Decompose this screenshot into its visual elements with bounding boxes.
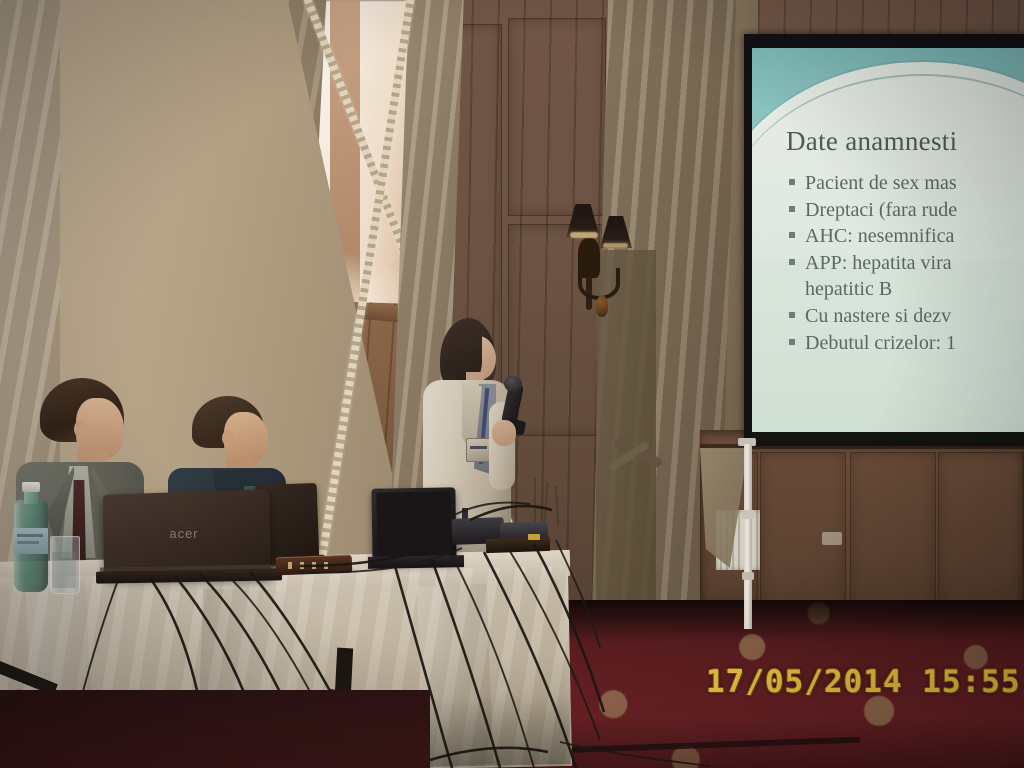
vignette-overlay xyxy=(0,0,1024,768)
photo-scene: Date anamnesti Pacient de sex mas Drepta… xyxy=(0,0,1024,768)
